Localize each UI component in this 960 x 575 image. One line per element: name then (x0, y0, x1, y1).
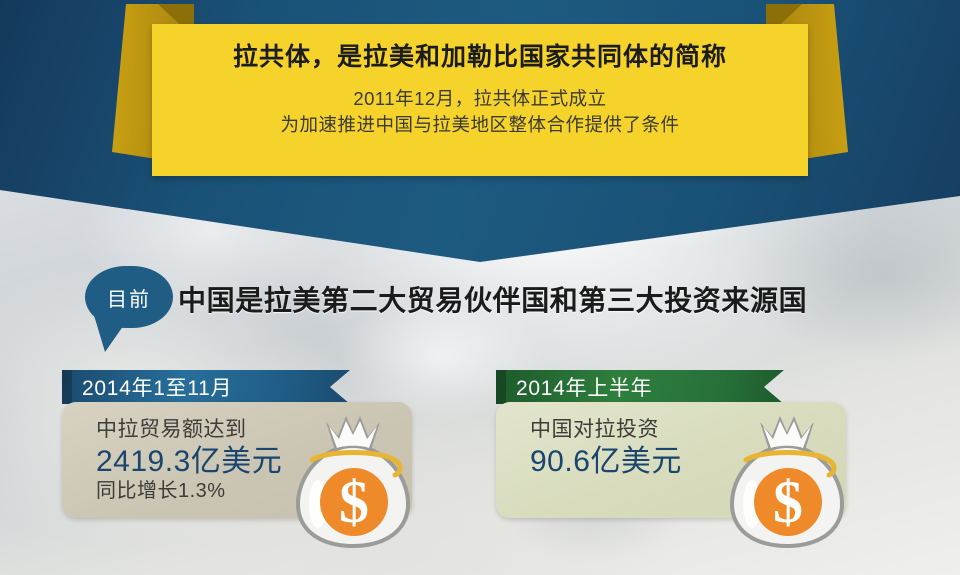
stat-card-period-label: 2014年1至11月 (82, 372, 232, 402)
ribbon-notch (496, 370, 506, 404)
stat-card-period-label: 2014年上半年 (516, 372, 652, 402)
dollar-glyph: $ (339, 469, 369, 535)
infographic-canvas: 拉共体，是拉美和加勒比国家共同体的简称 2011年12月，拉共体正式成立 为加速… (0, 0, 960, 575)
stat-card-ribbon: 2014年1至11月 (62, 370, 350, 404)
banner-subtitle-line-2: 为加速推进中国与拉美地区整体合作提供了条件 (152, 112, 808, 138)
stat-card-body: 中拉贸易额达到 2419.3亿美元 同比增长1.3% (62, 402, 412, 518)
dollar-glyph: $ (773, 469, 803, 535)
stat-card-trade: 2014年1至11月 中拉贸易额达到 2419.3亿美元 同比增长1.3% (62, 370, 447, 518)
stat-card-body: 中国对拉投资 90.6亿美元 $ (496, 402, 846, 518)
stat-card-investment: 2014年上半年 中国对拉投资 90.6亿美元 $ (496, 370, 881, 518)
ribbon-notch (62, 370, 72, 404)
banner-title: 拉共体，是拉美和加勒比国家共同体的简称 (152, 44, 808, 72)
callout-badge-label: 目前 (85, 266, 173, 328)
banner-title-plate: 拉共体，是拉美和加勒比国家共同体的简称 2011年12月，拉共体正式成立 为加速… (152, 24, 808, 176)
banner-subtitle-line-1: 2011年12月，拉共体正式成立 (152, 86, 808, 112)
callout-headline: 中国是拉美第二大贸易伙伴国和第三大投资来源国 (178, 279, 807, 319)
money-bag-icon: $ (716, 412, 858, 552)
callout-badge: 目前 (85, 266, 177, 352)
money-bag-icon: $ (282, 412, 424, 552)
stat-card-ribbon: 2014年上半年 (496, 370, 784, 404)
